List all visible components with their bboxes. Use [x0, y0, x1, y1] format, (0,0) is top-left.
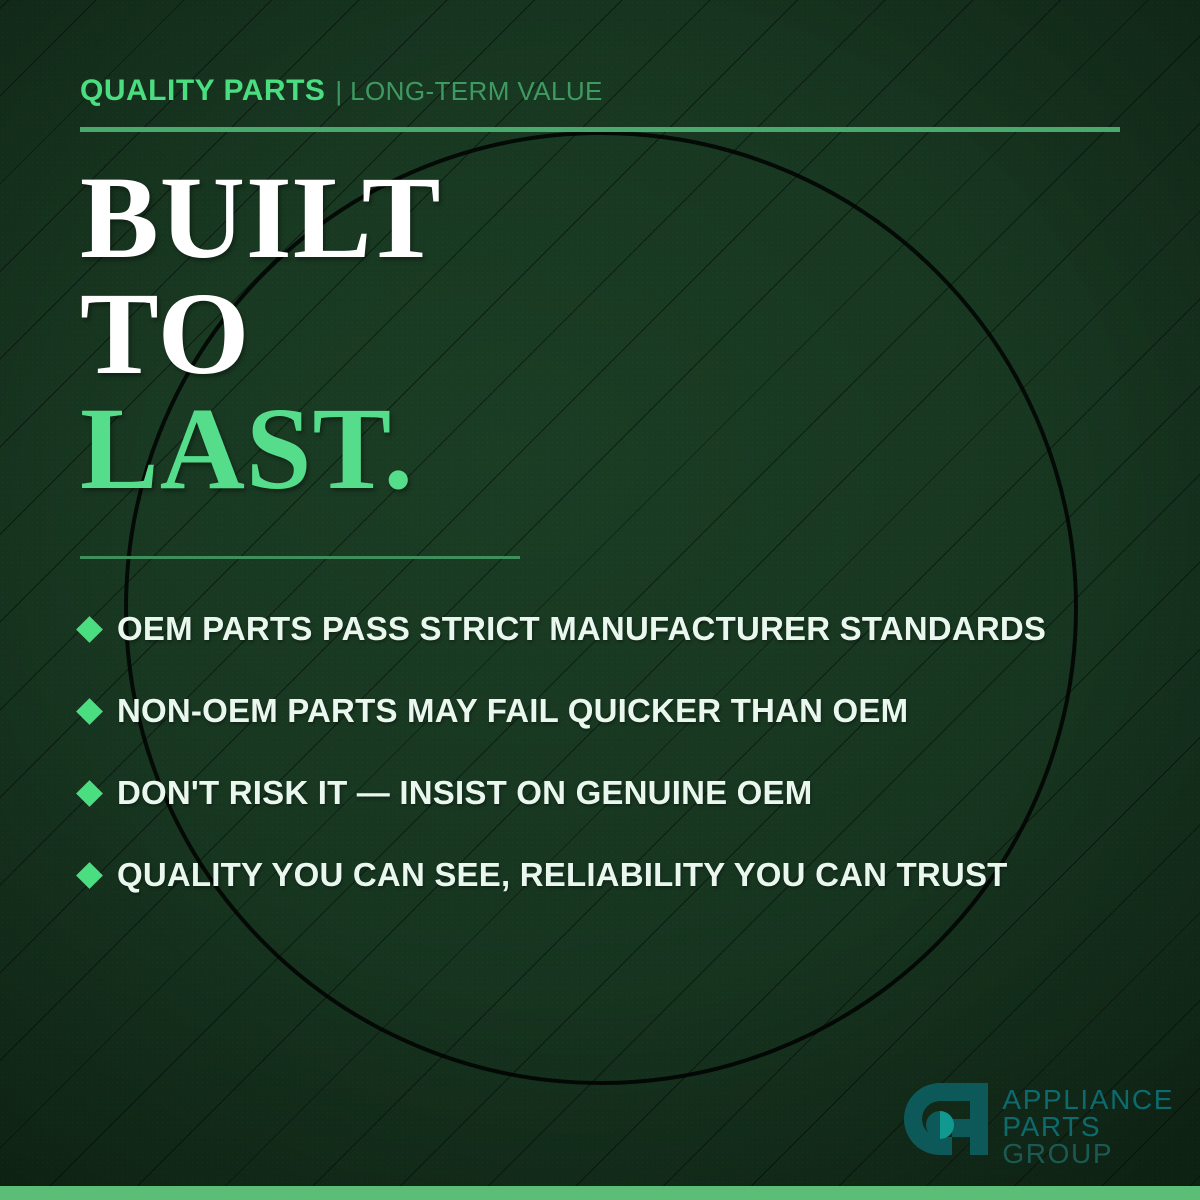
list-item-label: OEM PARTS PASS STRICT MANUFACTURER STAND…	[117, 610, 1046, 648]
top-divider-rule	[80, 127, 1120, 132]
headline-line-2: TO	[80, 276, 441, 392]
promo-poster: QUALITY PARTS | LONG-TERM VALUE BUILT TO…	[0, 0, 1200, 1200]
logo-line-3: GROUP	[1002, 1141, 1174, 1168]
eyebrow-heading: QUALITY PARTS | LONG-TERM VALUE	[80, 74, 603, 108]
brand-logo: APPLIANCE PARTS GROUP	[900, 1079, 1174, 1176]
logo-line-2: PARTS	[1002, 1114, 1174, 1141]
list-item-label: QUALITY YOU CAN SEE, RELIABILITY YOU CAN…	[117, 856, 1008, 894]
list-item: NON-OEM PARTS MAY FAIL QUICKER THAN OEM	[80, 670, 1150, 752]
diamond-bullet-icon	[76, 698, 103, 725]
eyebrow-strong-text: QUALITY PARTS	[80, 74, 325, 108]
poster-content: QUALITY PARTS | LONG-TERM VALUE BUILT TO…	[0, 0, 1200, 1200]
headline-line-3: LAST.	[80, 391, 441, 507]
page-title: BUILT TO LAST.	[80, 160, 441, 507]
list-item-label: NON-OEM PARTS MAY FAIL QUICKER THAN OEM	[117, 692, 908, 730]
mid-divider-rule	[80, 556, 520, 559]
list-item-label: DON'T RISK IT — INSIST ON GENUINE OEM	[117, 774, 812, 812]
diamond-bullet-icon	[76, 862, 103, 889]
eyebrow-light-text: | LONG-TERM VALUE	[335, 76, 602, 107]
list-item: QUALITY YOU CAN SEE, RELIABILITY YOU CAN…	[80, 834, 1150, 916]
diamond-bullet-icon	[76, 780, 103, 807]
list-item: DON'T RISK IT — INSIST ON GENUINE OEM	[80, 752, 1150, 834]
logo-line-1: APPLIANCE	[1002, 1087, 1174, 1114]
headline-line-1: BUILT	[80, 160, 441, 276]
list-item: OEM PARTS PASS STRICT MANUFACTURER STAND…	[80, 588, 1150, 670]
brand-logo-wordmark: APPLIANCE PARTS GROUP	[1002, 1087, 1174, 1168]
benefits-list: OEM PARTS PASS STRICT MANUFACTURER STAND…	[80, 588, 1150, 916]
bottom-accent-bar	[0, 1186, 1200, 1200]
diamond-bullet-icon	[76, 616, 103, 643]
g-monogram-icon	[900, 1079, 992, 1176]
